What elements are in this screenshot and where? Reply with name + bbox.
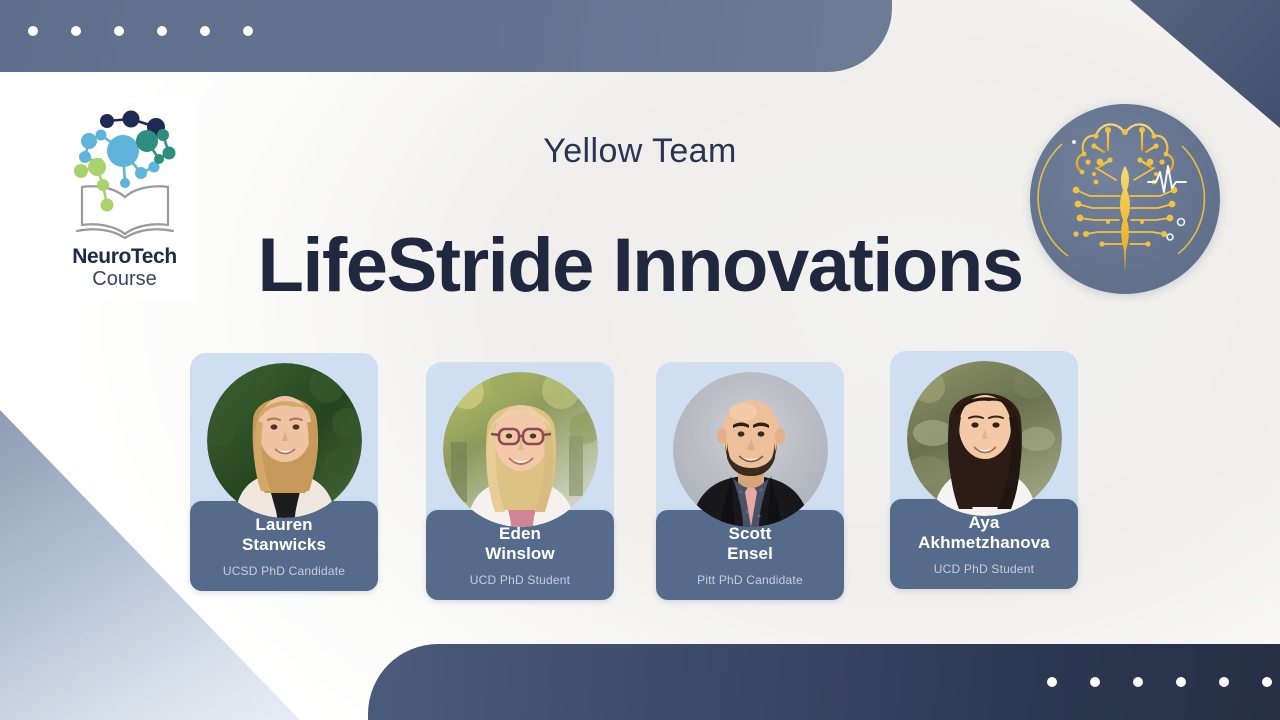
member-photo-frame (890, 351, 1078, 521)
member-role: Pitt PhD Candidate (664, 573, 836, 587)
decorative-dot (1219, 677, 1229, 687)
member-role: UCSD PhD Candidate (198, 564, 370, 578)
avatar (443, 372, 598, 527)
decorative-dot (157, 26, 167, 36)
decorative-dot (1047, 677, 1057, 687)
page-title: LifeStride Innovations (0, 222, 1280, 309)
decorative-dot (1133, 677, 1143, 687)
member-name: Eden Winslow (434, 524, 606, 564)
member-card[interactable]: Aya Akhmetzhanova UCD PhD Student (890, 351, 1078, 589)
presentation-slide: NeuroTech Course (0, 0, 1280, 720)
member-role: UCD PhD Student (434, 573, 606, 587)
member-photo-frame (656, 362, 844, 532)
member-name: Aya Akhmetzhanova (898, 513, 1070, 553)
member-card[interactable]: Scott Ensel Pitt PhD Candidate (656, 362, 844, 600)
team-subtitle: Yellow Team (0, 132, 1280, 171)
decorative-dot (114, 26, 124, 36)
decorative-dot (71, 26, 81, 36)
bottom-dot-row (1047, 644, 1272, 720)
member-photo-frame (190, 353, 378, 523)
decorative-dot (28, 26, 38, 36)
top-dot-row (0, 0, 892, 72)
avatar (673, 372, 828, 527)
decorative-dot (1262, 677, 1272, 687)
top-decorative-bar (0, 0, 892, 72)
decorative-dot (1090, 677, 1100, 687)
decorative-dot (243, 26, 253, 36)
decorative-dot (200, 26, 210, 36)
avatar (907, 361, 1062, 516)
member-role: UCD PhD Student (898, 562, 1070, 576)
member-card[interactable]: Lauren Stanwicks UCSD PhD Candidate (190, 353, 378, 591)
bottom-decorative-bar (368, 644, 1280, 720)
member-name: Lauren Stanwicks (198, 515, 370, 555)
member-card[interactable]: Eden Winslow UCD PhD Student (426, 362, 614, 600)
member-photo-frame (426, 362, 614, 532)
decorative-dot (1176, 677, 1186, 687)
team-member-row: Lauren Stanwicks UCSD PhD Candidate (190, 348, 1090, 618)
member-name: Scott Ensel (664, 524, 836, 564)
avatar (207, 363, 362, 518)
